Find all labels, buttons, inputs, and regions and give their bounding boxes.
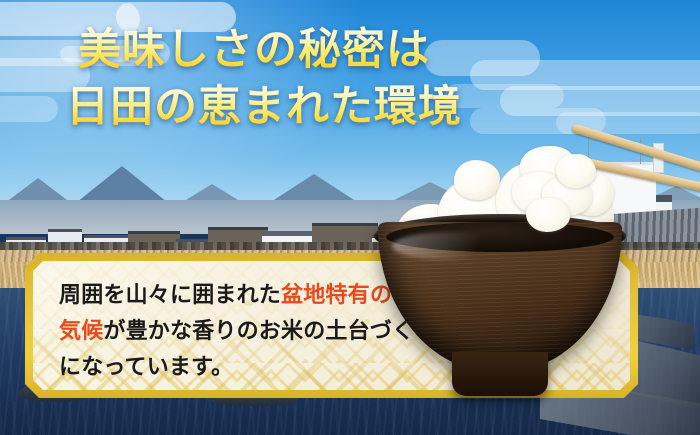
- rooftop-stack: [653, 143, 664, 173]
- hospital-sign-line-1: 大河原: [554, 173, 596, 188]
- headline: 美味しさの秘密は 日田の恵まれた環境: [0, 22, 700, 136]
- caption-segment-accent: 盆地特有の: [281, 282, 392, 308]
- caption-line: 気候が豊かな香りのお米の土台づくり: [59, 313, 479, 349]
- caption-segment-accent: 気候: [59, 318, 103, 344]
- hospital-sign-line-2: 病院: [554, 188, 596, 203]
- headline-line-1: 美味しさの秘密は: [78, 22, 430, 79]
- rice-speck: [503, 347, 510, 352]
- caption-segment: になっています。: [59, 354, 233, 380]
- caption-panel-inner: 周囲を山々に囲まれた盆地特有の 気候が豊かな香りのお米の土台づくり になっていま…: [33, 261, 630, 390]
- caption-segment: が豊かな香りのお米の土台づくり: [103, 318, 436, 344]
- hospital-sign: 大河原 病院: [554, 173, 596, 203]
- caption-panel: 周囲を山々に囲まれた盆地特有の 気候が豊かな香りのお米の土台づくり になっていま…: [25, 253, 638, 398]
- caption-line: 周囲を山々に囲まれた盆地特有の: [59, 277, 479, 313]
- antenna: [588, 138, 589, 164]
- promo-banner: 大河原 病院 美味しさの秘密は 日田の恵まれた環境: [0, 0, 700, 435]
- caption-segment: 周囲を山々に囲まれた: [59, 282, 281, 308]
- headline-line-2: 日田の恵まれた環境: [66, 79, 462, 136]
- antenna: [640, 138, 641, 164]
- caption-text: 周囲を山々に囲まれた盆地特有の 気候が豊かな香りのお米の土台づくり になっていま…: [59, 277, 479, 385]
- caption-line: になっています。: [59, 349, 479, 385]
